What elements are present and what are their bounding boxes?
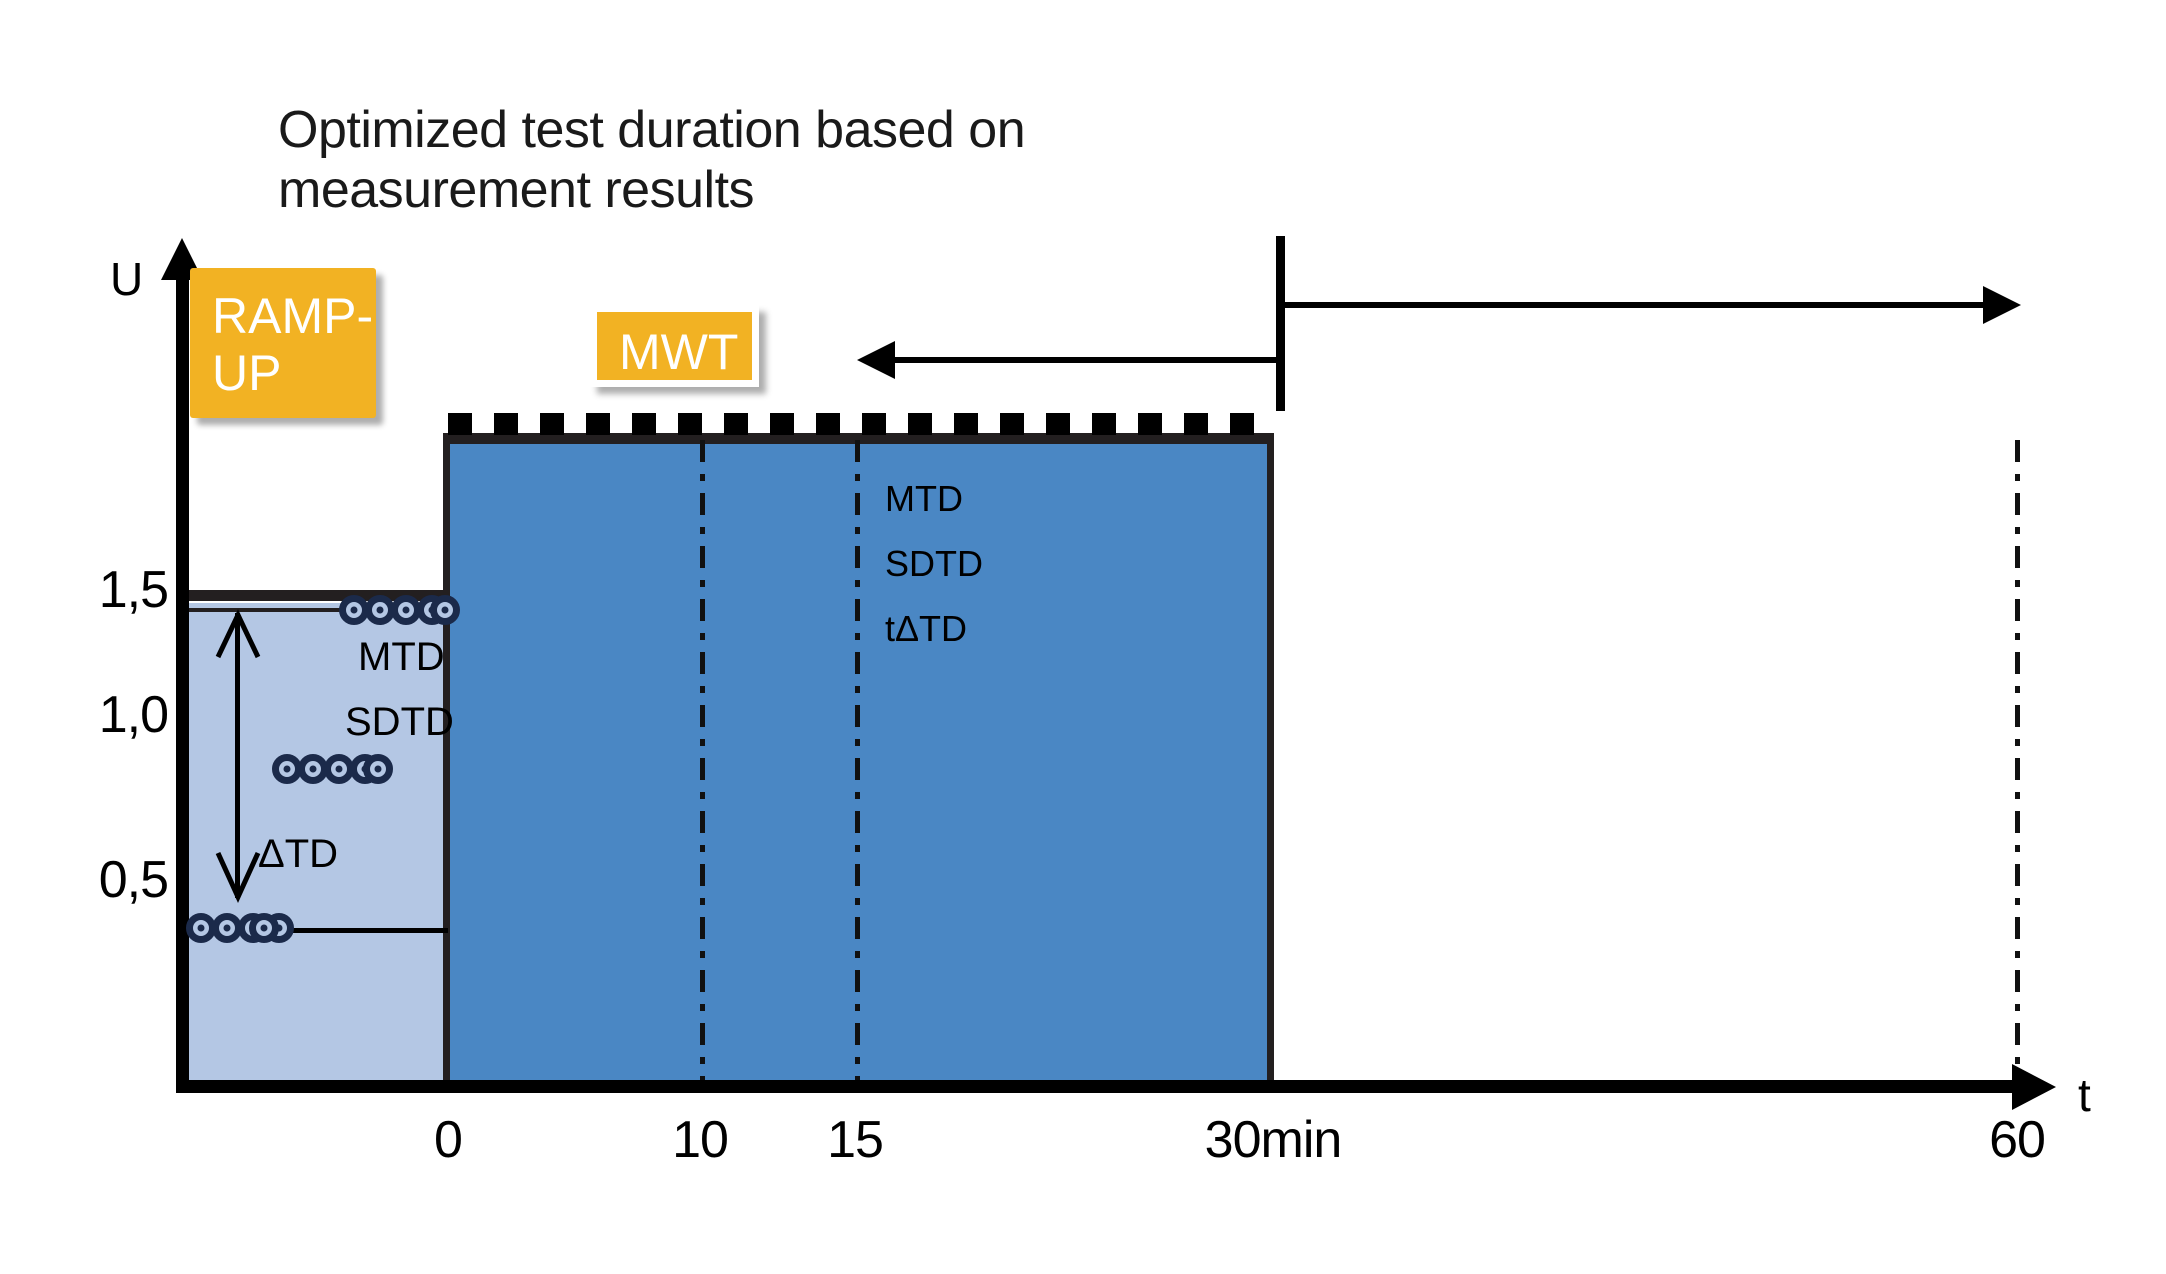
mwt-region-left-border [443, 440, 450, 1080]
guide-60min [2015, 440, 2020, 1085]
x-axis-label: t [2078, 1068, 2091, 1122]
shorten-arrow-line [895, 357, 1280, 363]
ramp-label-delta-td: ΔTD [258, 832, 338, 877]
mwt-label-t-delta-td: tΔTD [885, 608, 967, 650]
callout-ramp-up-label: RAMP- UP [212, 288, 373, 401]
extend-arrow-line [1280, 302, 1985, 308]
data-marker [249, 913, 279, 943]
y-axis-label: U [110, 252, 143, 306]
y-tick-label: 1,5 [18, 560, 168, 620]
page-title: Optimized test duration based on measure… [278, 100, 1178, 221]
callout-mwt-label: MWT [619, 324, 738, 380]
diagram-canvas: Optimized test duration based on measure… [0, 0, 2166, 1274]
x-tick-15: 15 [800, 1110, 910, 1170]
x-tick-0: 0 [398, 1110, 498, 1170]
x-tick-60: 60 [1962, 1110, 2072, 1170]
x-tick-30min: 30min [1148, 1110, 1398, 1170]
x-axis [176, 1080, 2021, 1093]
data-marker [363, 754, 393, 784]
mwt-label-mtd: MTD [885, 478, 963, 520]
shorten-arrow-head [857, 341, 895, 379]
mwt-region-right-border [1267, 440, 1274, 1080]
mwt-region-top-dash-pattern [448, 413, 1273, 435]
bracket-divider [1276, 236, 1285, 411]
data-marker [430, 595, 460, 625]
x-axis-arrowhead [2012, 1064, 2056, 1110]
ramp-label-sdtd: SDTD [345, 700, 454, 745]
extend-arrow-head [1983, 286, 2021, 324]
callout-ramp-up[interactable]: RAMP- UP [190, 268, 376, 418]
guide-10min [700, 440, 705, 1080]
y-tick-label: 0,5 [18, 850, 168, 910]
callout-mwt[interactable]: MWT [590, 305, 759, 387]
guide-15min [855, 440, 860, 1080]
ramp-label-mtd: MTD [358, 635, 445, 680]
mwt-label-sdtd: SDTD [885, 543, 983, 585]
mwt-region [448, 440, 1273, 1080]
data-marker [339, 595, 369, 625]
y-axis [176, 262, 189, 1092]
y-tick-label: 1,0 [18, 685, 168, 745]
x-tick-10: 10 [645, 1110, 755, 1170]
